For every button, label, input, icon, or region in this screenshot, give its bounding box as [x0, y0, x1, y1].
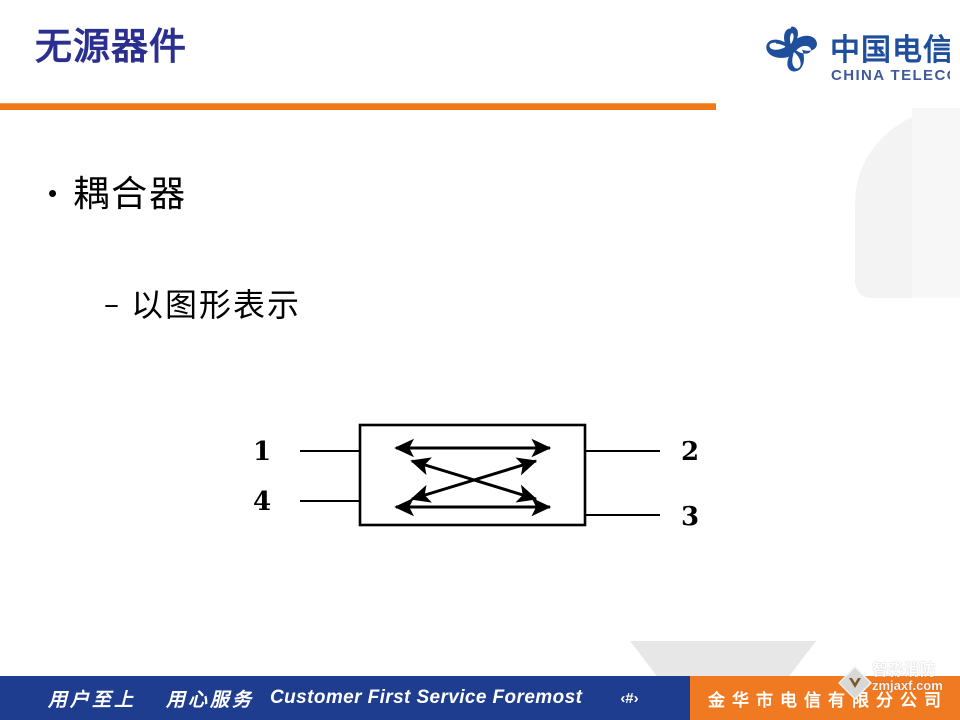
bullet-dot-icon: •: [48, 172, 57, 214]
bullet-item-level1: • 耦合器: [48, 172, 187, 218]
footer-blue-section: 用户至上 用心服务 Customer First Service Foremos…: [0, 676, 690, 720]
svg-text:中国电信: 中国电信: [830, 33, 950, 68]
page-title: 无源器件: [35, 28, 187, 65]
bullet-item-level2: – 以图形表示: [104, 284, 301, 326]
port-label-1: 1: [253, 437, 271, 467]
title-underline-rule: [0, 103, 716, 110]
port-label-4: 4: [253, 487, 271, 517]
footer-bar: 用户至上 用心服务 Customer First Service Foremos…: [0, 676, 960, 720]
footer-slogan-en: Customer First Service Foremost: [270, 687, 582, 709]
svg-text:CHINA TELECOM: CHINA TELECOM: [831, 67, 950, 84]
telecom-swirl-icon: [766, 27, 817, 72]
footer-company-name: 金华市电信有限分公司: [702, 686, 948, 711]
slide-canvas: 无源器件 中国电信 CHINA TELECOM • 耦合器 – 以图形表示: [0, 0, 960, 720]
optical-coupler-diagram: 1 4 2 3: [240, 415, 720, 545]
port-label-2: 2: [681, 437, 699, 467]
footer-slogan-cn-1: 用户至上: [48, 685, 136, 712]
footer-orange-section: 金华市电信有限分公司: [690, 676, 960, 720]
footer-slogan-cn-2: 用心服务: [166, 685, 254, 712]
background-wedge-inner-decoration: [912, 108, 960, 298]
background-trapezoid-decoration: [630, 641, 816, 680]
logo-en-text: CHINA TELECOM: [831, 67, 950, 84]
bullet-dash-icon: –: [104, 284, 119, 326]
china-telecom-logo: 中国电信 CHINA TELECOM: [757, 22, 950, 94]
logo-cn-text: 中国电信: [830, 33, 950, 68]
coupler-body-rect: [360, 425, 585, 525]
bullet-level2-label: 以图形表示: [131, 284, 301, 326]
port-label-3: 3: [681, 502, 699, 532]
bullet-level1-label: 耦合器: [73, 172, 187, 218]
slide-number-placeholder: ‹#›: [620, 690, 638, 707]
